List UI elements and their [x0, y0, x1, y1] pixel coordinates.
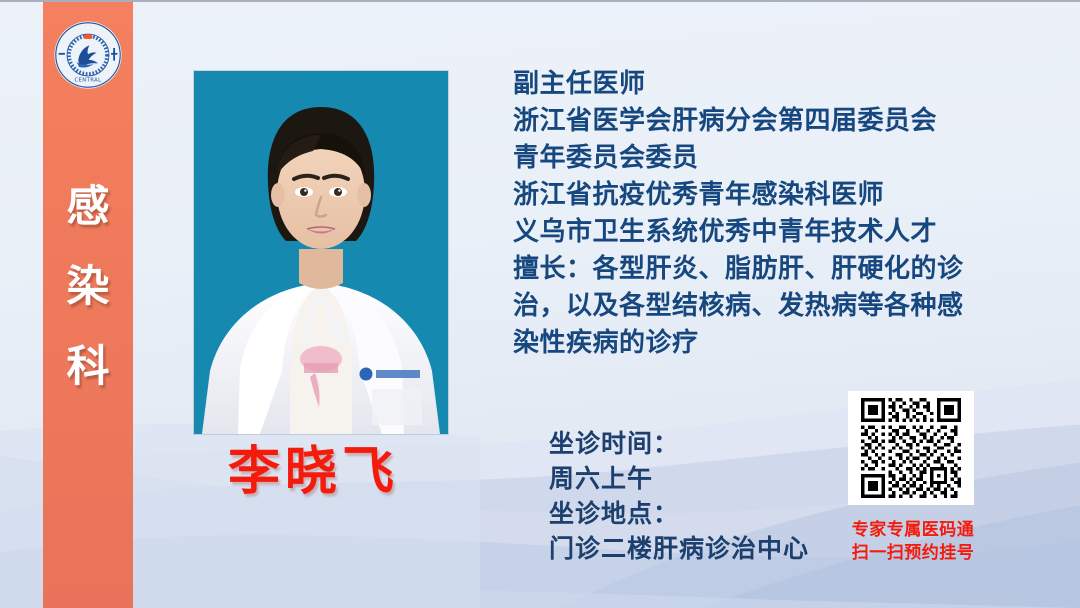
credential-line: 浙江省抗疫优秀青年感染科医师 [513, 177, 1023, 214]
credential-line: 擅长：各型肝炎、脂肪肝、肝硬化的诊 [513, 251, 1023, 288]
qr-appointment-block[interactable]: 专家专属医码通 扫一扫预约挂号 [848, 391, 978, 565]
qr-caption: 专家专属医码通 扫一扫预约挂号 [848, 519, 978, 565]
credential-line: 染性疾病的诊疗 [513, 325, 1023, 362]
schedule-place-label: 坐诊地点： [549, 496, 809, 531]
credential-line: 治，以及各型结核病、发热病等各种感 [513, 288, 1023, 325]
credential-line: 义乌市卫生系统优秀中青年技术人才 [513, 214, 1023, 251]
dept-char-3: 科 [43, 327, 133, 407]
schedule-time-label: 坐诊时间： [549, 426, 809, 461]
credentials-list: 副主任医师 浙江省医学会肝病分会第四届委员会 青年委员会委员 浙江省抗疫优秀青年… [513, 66, 1023, 362]
department-banner: CENTRAL 感 染 科 [43, 2, 133, 608]
doctor-name: 李晓飞 [228, 446, 399, 498]
credential-line: 浙江省医学会肝病分会第四届委员会 [513, 103, 1023, 140]
doctor-portrait [194, 71, 448, 434]
credential-line: 青年委员会委员 [513, 140, 1023, 177]
qr-code-icon[interactable] [848, 391, 974, 505]
dept-char-2: 染 [43, 247, 133, 327]
schedule-time-value: 周六上午 [549, 461, 809, 496]
schedule-place-value: 门诊二楼肝病诊治中心 [549, 531, 809, 566]
department-label: 感 染 科 [43, 167, 133, 407]
consultation-schedule: 坐诊时间： 周六上午 坐诊地点： 门诊二楼肝病诊治中心 [549, 426, 809, 566]
qr-caption-line2: 扫一扫预约挂号 [848, 542, 978, 565]
dept-char-1: 感 [43, 167, 133, 247]
qr-caption-line1: 专家专属医码通 [848, 519, 978, 542]
svg-text:CENTRAL: CENTRAL [74, 78, 101, 84]
credential-line: 副主任医师 [513, 66, 1023, 103]
doctor-profile-card: CENTRAL 感 染 科 [0, 0, 1080, 608]
hospital-emblem-icon: CENTRAL [53, 20, 123, 90]
